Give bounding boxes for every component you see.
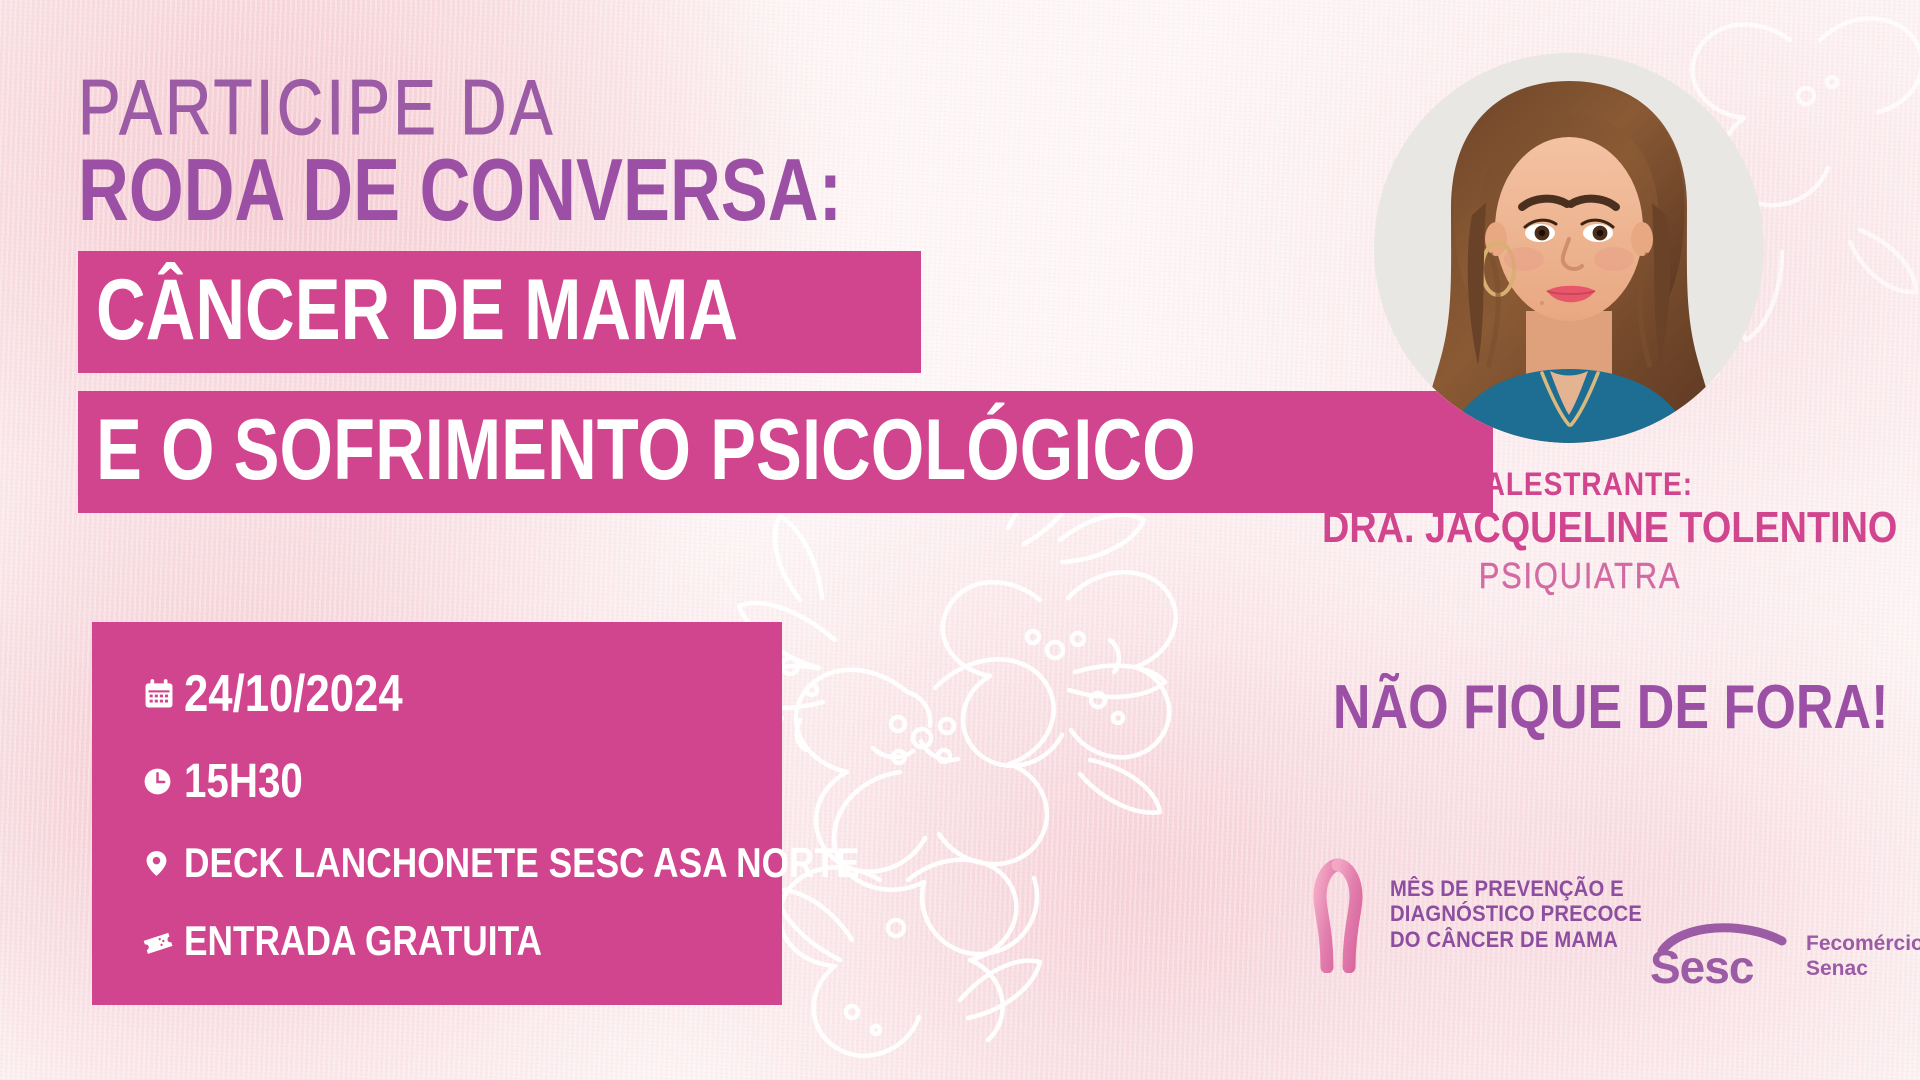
sesc-logo-senac: Senac xyxy=(1806,957,1920,981)
detail-row-date: 24/10/2024 xyxy=(142,664,782,724)
detail-row-time: 15H30 xyxy=(142,754,782,809)
avatar xyxy=(1374,53,1764,443)
pink-ribbon-icon xyxy=(1300,855,1376,973)
campaign-logo-line2: DIAGNÓSTICO PRECOCE xyxy=(1390,901,1642,926)
speaker-name: DRA. JACQUELINE TOLENTINO xyxy=(1322,505,1838,551)
calendar-icon xyxy=(142,677,184,711)
speaker-credits: PALESTRANTE: DRA. JACQUELINE TOLENTINO P… xyxy=(1280,466,1880,597)
headline-kicker: PARTICIPE DA xyxy=(78,72,865,144)
speaker-specialty: PSIQUIATRA xyxy=(1322,555,1838,597)
ticket-icon xyxy=(142,926,184,957)
map-pin-icon xyxy=(142,849,184,878)
detail-text-location: DECK LANCHONETE SESC ASA NORTE xyxy=(184,839,860,887)
speaker-role-label: PALESTRANTE: xyxy=(1316,466,1844,503)
sesc-logo: Sesc Fecomércio Senac xyxy=(1648,915,1920,987)
headline-group: PARTICIPE DA RODA DE CONVERSA: CÂNCER DE… xyxy=(78,72,1038,513)
event-details-panel: 24/10/2024 15H30 DECK LANCHONETE SESC AS… xyxy=(92,622,782,1005)
detail-text-time: 15H30 xyxy=(184,754,303,809)
campaign-logo: MÊS DE PREVENÇÃO E DIAGNÓSTICO PRECOCE D… xyxy=(1300,855,1664,973)
clock-icon xyxy=(142,766,184,797)
campaign-logo-line3: DO CÂNCER DE MAMA xyxy=(1390,927,1642,952)
headline-subject: RODA DE CONVERSA: xyxy=(78,150,846,231)
call-to-action-text: NÃO FIQUE DE FORA! xyxy=(1333,672,1889,743)
detail-text-date: 24/10/2024 xyxy=(184,664,403,724)
sesc-logo-subtext: Fecomércio Senac xyxy=(1806,932,1920,987)
title-block-primary: CÂNCER DE MAMA xyxy=(78,251,921,373)
detail-row-location: DECK LANCHONETE SESC ASA NORTE xyxy=(142,839,782,887)
detail-text-price: ENTRADA GRATUITA xyxy=(184,917,542,965)
svg-text:Sesc: Sesc xyxy=(1650,941,1754,987)
title-block-primary-text: CÂNCER DE MAMA xyxy=(96,267,738,353)
speaker-portrait-illustration xyxy=(1374,53,1764,443)
call-to-action: NÃO FIQUE DE FORA! xyxy=(1280,672,1880,743)
campaign-logo-text: MÊS DE PREVENÇÃO E DIAGNÓSTICO PRECOCE D… xyxy=(1390,876,1664,951)
sesc-wordmark-icon: Sesc xyxy=(1648,915,1794,987)
sesc-logo-fecomercio: Fecomércio xyxy=(1806,932,1920,956)
title-block-secondary-text: E O SOFRIMENTO PSICOLÓGICO xyxy=(96,407,1196,493)
campaign-logo-line1: MÊS DE PREVENÇÃO E xyxy=(1390,876,1642,901)
detail-row-price: ENTRADA GRATUITA xyxy=(142,917,782,965)
